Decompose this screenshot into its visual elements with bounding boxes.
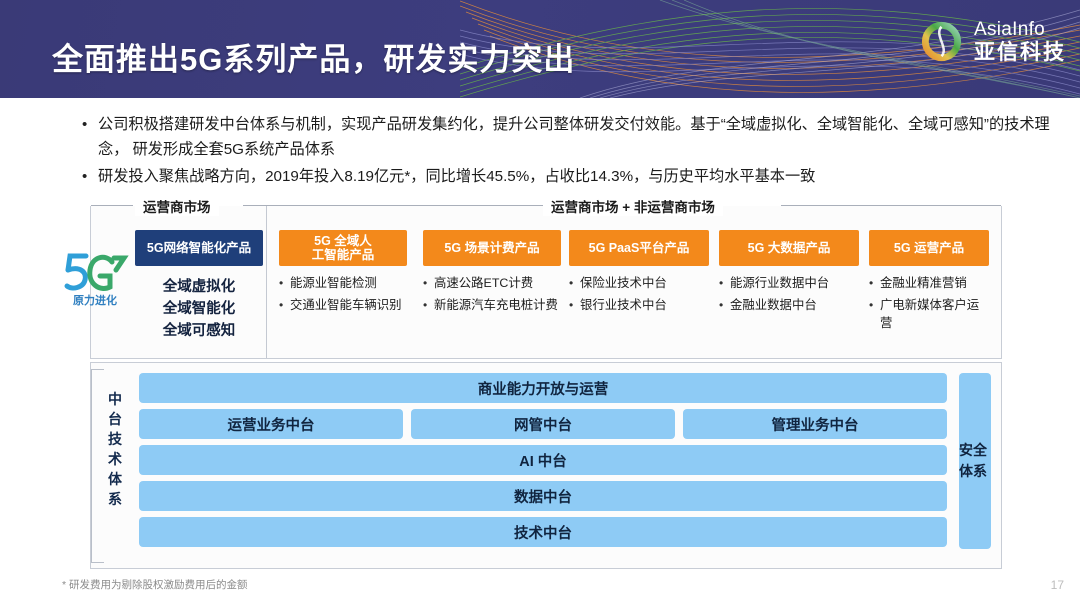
bullet-item: • 公司积极搭建研发中台体系与机制，实现产品研发集约化，提升公司整体研发交付效能… (82, 112, 1062, 162)
product-item-list: • 能源行业数据中台 • 金融业数据中台 (719, 274, 859, 314)
vertical-label-char: 术 (101, 449, 129, 469)
vertical-label-char: 安 (959, 442, 973, 458)
bullet-marker: • (82, 112, 98, 137)
list-item: • 金融业数据中台 (719, 296, 859, 314)
list-item: • 能源业智能检测 (279, 274, 407, 292)
list-text: 新能源汽车充电桩计费 (434, 296, 558, 314)
list-marker: • (869, 274, 880, 292)
brand-name-cn: 亚信科技 (974, 42, 1066, 63)
list-item: • 能源行业数据中台 (719, 274, 859, 292)
brand-name-en: AsiaInfo (974, 20, 1066, 39)
product-item-list: • 能源业智能检测 • 交通业智能车辆识别 (279, 274, 407, 314)
product-column-scenario-billing[interactable]: 5G 场景计费产品 • 高速公路ETC计费 • 新能源汽车充电桩计费 (423, 230, 561, 318)
list-marker: • (569, 274, 580, 292)
bullet-item: • 研发投入聚焦战略方向，2019年投入8.19亿元*，同比增长45.5%，占收… (82, 164, 1062, 189)
page-title: 全面推出5G系列产品，研发实力突出 (52, 34, 575, 79)
product-columns: 5G网络智能化产品 全域虚拟化 全域智能化 全域可感知 5G 全域人 工智能产品… (91, 206, 1001, 358)
vertical-label-char: 体 (959, 463, 973, 479)
vertical-label-char: 系 (101, 489, 129, 509)
list-marker: • (423, 296, 434, 314)
list-item: • 保险业技术中台 (569, 274, 709, 292)
list-text: 能源行业数据中台 (730, 274, 829, 292)
list-text: 能源业智能检测 (290, 274, 377, 292)
platform-bar-technology[interactable]: 技术中台 (139, 517, 947, 547)
asiainfo-ring-icon (918, 18, 965, 65)
list-marker: • (719, 274, 730, 292)
capability-line: 全域可感知 (135, 320, 263, 342)
product-item-list: • 金融业精准营销 • 广电新媒体客户运营 (869, 274, 989, 332)
bullet-text: 研发投入聚焦战略方向，2019年投入8.19亿元*，同比增长45.5%，占收比1… (98, 164, 815, 189)
list-marker: • (279, 296, 290, 314)
list-marker: • (569, 296, 580, 314)
list-marker: • (719, 296, 730, 314)
vertical-label-char: 体 (101, 469, 129, 489)
product-column-ai[interactable]: 5G 全域人 工智能产品 • 能源业智能检测 • 交通业智能车辆识别 (279, 230, 407, 318)
product-chip[interactable]: 5G网络智能化产品 (135, 230, 263, 266)
page-number: 17 (1051, 578, 1064, 592)
product-column-paas[interactable]: 5G PaaS平台产品 • 保险业技术中台 • 银行业技术中台 (569, 230, 709, 318)
vertical-label-char: 系 (973, 463, 987, 479)
list-item: • 广电新媒体客户运营 (869, 296, 989, 332)
platform-bar-operations-business[interactable]: 运营业务中台 (139, 409, 403, 439)
capability-line: 全域虚拟化 (135, 276, 263, 298)
product-chip[interactable]: 5G PaaS平台产品 (569, 230, 709, 266)
slide-root: 全面推出5G系列产品，研发实力突出 AsiaInfo 亚信科技 (0, 0, 1080, 608)
capability-line: 全域智能化 (135, 298, 263, 320)
capability-lines: 全域虚拟化 全域智能化 全域可感知 (135, 276, 263, 342)
platform-left-label: 中台技术体系 (101, 389, 129, 509)
platform-bar-data[interactable]: 数据中台 (139, 481, 947, 511)
bullet-list: • 公司积极搭建研发中台体系与机制，实现产品研发集约化，提升公司整体研发交付效能… (82, 112, 1062, 191)
product-chip[interactable]: 5G 场景计费产品 (423, 230, 561, 266)
list-marker: • (279, 274, 290, 292)
list-item: • 银行业技术中台 (569, 296, 709, 314)
list-marker: • (869, 296, 880, 314)
list-item: • 新能源汽车充电桩计费 (423, 296, 561, 314)
product-column-bigdata[interactable]: 5G 大数据产品 • 能源行业数据中台 • 金融业数据中台 (719, 230, 859, 318)
list-text: 金融业数据中台 (730, 296, 817, 314)
platform-bar-network-management[interactable]: 网管中台 (411, 409, 675, 439)
product-column-operations[interactable]: 5G 运营产品 • 金融业精准营销 • 广电新媒体客户运营 (869, 230, 989, 336)
product-chip[interactable]: 5G 全域人 工智能产品 (279, 230, 407, 266)
bullet-marker: • (82, 164, 98, 189)
list-text: 交通业智能车辆识别 (290, 296, 402, 314)
vertical-label-char: 中 (101, 389, 129, 409)
list-marker: • (423, 274, 434, 292)
platform-architecture-panel: 中台技术体系 商业能力开放与运营 运营业务中台 网管中台 管理业务中台 AI 中… (90, 362, 1002, 569)
platform-bar-management-business[interactable]: 管理业务中台 (683, 409, 947, 439)
platform-bars: 商业能力开放与运营 运营业务中台 网管中台 管理业务中台 AI 中台 数据中台 … (139, 373, 947, 553)
list-item: • 交通业智能车辆识别 (279, 296, 407, 314)
slide-header: 全面推出5G系列产品，研发实力突出 AsiaInfo 亚信科技 (0, 0, 1080, 98)
brand-logo: AsiaInfo 亚信科技 (918, 18, 1066, 65)
list-text: 高速公路ETC计费 (434, 274, 533, 292)
list-text: 金融业精准营销 (880, 274, 967, 292)
platform-bar-row-midplatforms: 运营业务中台 网管中台 管理业务中台 (139, 409, 947, 439)
vertical-label-char: 全 (973, 442, 987, 458)
product-item-list: • 保险业技术中台 • 银行业技术中台 (569, 274, 709, 314)
list-item: • 高速公路ETC计费 (423, 274, 561, 292)
product-chip[interactable]: 5G 大数据产品 (719, 230, 859, 266)
platform-left-label-text: 中台技术体系 (101, 389, 129, 509)
list-text: 保险业技术中台 (580, 274, 667, 292)
security-system-box[interactable]: 安全体系 (959, 373, 991, 549)
platform-bar-ai[interactable]: AI 中台 (139, 445, 947, 475)
security-system-label: 安全体系 (959, 440, 991, 482)
list-text: 广电新媒体客户运营 (880, 296, 989, 332)
list-text: 银行业技术中台 (580, 296, 667, 314)
product-matrix-panel: 运营商市场 运营商市场 + 非运营商市场 原力进化 5G网络智能化产品 全域虚拟… (90, 206, 1002, 359)
vertical-label-char: 台 (101, 409, 129, 429)
footnote: * 研发费用为剔除股权激励费用后的金额 (62, 577, 248, 592)
platform-bar-commercial-capability[interactable]: 商业能力开放与运营 (139, 373, 947, 403)
product-column-network-intelligence[interactable]: 5G网络智能化产品 全域虚拟化 全域智能化 全域可感知 (135, 230, 263, 342)
product-item-list: • 高速公路ETC计费 • 新能源汽车充电桩计费 (423, 274, 561, 314)
bullet-text: 公司积极搭建研发中台体系与机制，实现产品研发集约化，提升公司整体研发交付效能。基… (98, 112, 1062, 162)
list-item: • 金融业精准营销 (869, 274, 989, 292)
vertical-label-char: 技 (101, 429, 129, 449)
product-chip[interactable]: 5G 运营产品 (869, 230, 989, 266)
